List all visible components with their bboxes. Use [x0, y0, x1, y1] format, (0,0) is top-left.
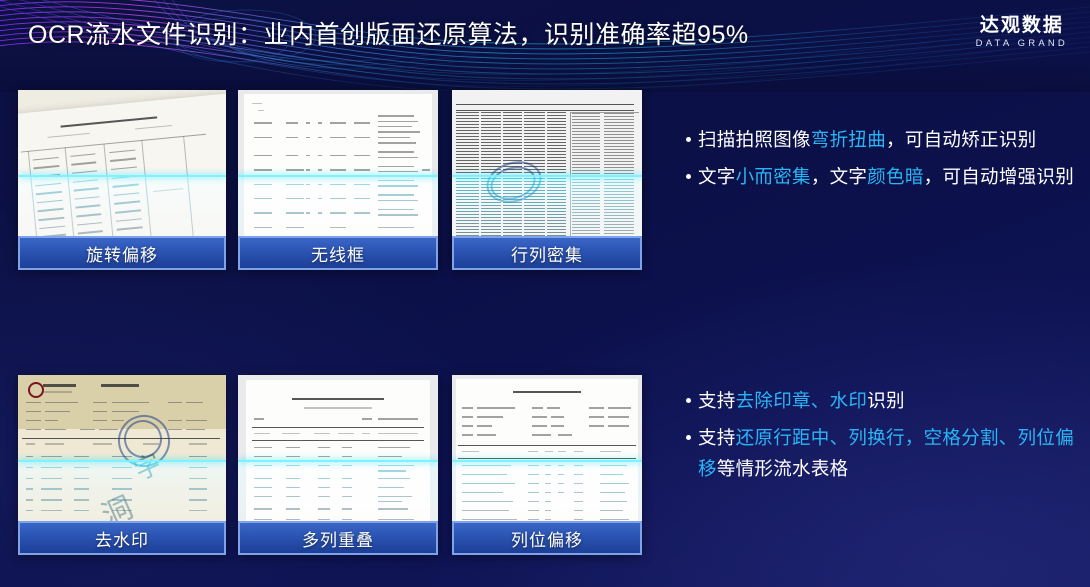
plain-phrase: 扫描拍照图像	[698, 129, 811, 150]
card-caption: 旋转偏移	[18, 236, 226, 270]
brand-logo: 达观数据 DATA GRAND	[976, 14, 1068, 51]
scan-edge-line	[238, 460, 438, 462]
bullet-dot-icon	[686, 435, 691, 440]
bullet-text: 文字小而密集，文字颜色暗，可自动增强识别	[698, 161, 1074, 192]
scan-edge-line	[18, 460, 226, 462]
brand-name-en: DATA GRAND	[976, 37, 1068, 51]
scan-edge-line	[18, 175, 226, 177]
sample-card-grid: 旋转偏移	[18, 90, 650, 560]
plain-phrase: ，可自动矫正识别	[886, 129, 1036, 150]
feature-bullets-group-1: 扫描拍照图像弯折扭曲，可自动矫正识别 文字小而密集，文字颜色暗，可自动增强识别	[686, 124, 1078, 198]
plain-phrase: 支持	[698, 427, 736, 448]
card-row-top: 旋转偏移	[18, 90, 650, 270]
scan-edge-line	[238, 175, 438, 177]
sample-card-dense[interactable]: 行列密集	[452, 90, 642, 270]
plain-phrase: ，文字	[811, 166, 867, 187]
card-caption: 无线框	[238, 236, 438, 270]
bullet-item: 支持还原行距中、列换行，空格分割、列位偏移等情形流水表格	[686, 422, 1086, 484]
card-caption: 列位偏移	[452, 521, 642, 555]
highlighted-phrase: 弯折扭曲	[811, 129, 886, 150]
slide-root: OCR流水文件识别：业内首创版面还原算法，识别准确率超95% 达观数据 DATA…	[0, 0, 1090, 587]
bullet-item: 文字小而密集，文字颜色暗，可自动增强识别	[686, 161, 1078, 192]
highlighted-phrase: 颜色暗	[867, 166, 923, 187]
card-caption: 行列密集	[452, 236, 642, 270]
bullet-text: 支持还原行距中、列换行，空格分割、列位偏移等情形流水表格	[698, 422, 1086, 484]
page-title: OCR流水文件识别：业内首创版面还原算法，识别准确率超95%	[28, 18, 749, 52]
bullet-item: 支持去除印章、水印识别	[686, 385, 1086, 416]
bullet-dot-icon	[686, 398, 691, 403]
bullet-item: 扫描拍照图像弯折扭曲，可自动矫正识别	[686, 124, 1078, 155]
highlighted-phrase: 去除印章、水印	[736, 390, 868, 411]
plain-phrase: 识别	[867, 390, 905, 411]
highlighted-phrase: 小而密集	[736, 166, 811, 187]
feature-bullets-group-2: 支持去除印章、水印识别 支持还原行距中、列换行，空格分割、列位偏移等情形流水表格	[686, 385, 1086, 490]
bullet-dot-icon	[686, 174, 691, 179]
sample-card-watermark[interactable]: 字 洞 去水印	[18, 375, 226, 555]
sample-card-rotated[interactable]: 旋转偏移	[18, 90, 226, 270]
card-caption: 去水印	[18, 521, 226, 555]
scan-edge-line	[452, 460, 642, 462]
bullet-text: 支持去除印章、水印识别	[698, 385, 905, 416]
plain-phrase: 等情形流水表格	[717, 458, 849, 479]
plain-phrase: 支持	[698, 390, 736, 411]
sample-card-shifted[interactable]: 列位偏移	[452, 375, 642, 555]
scan-edge-line	[452, 175, 642, 177]
sample-card-borderless[interactable]: 无线框	[238, 90, 438, 270]
bullet-text: 扫描拍照图像弯折扭曲，可自动矫正识别	[698, 124, 1036, 155]
brand-name-cn: 达观数据	[976, 14, 1068, 37]
plain-phrase: 文字	[698, 166, 736, 187]
card-row-bottom: 字 洞 去水印	[18, 375, 650, 555]
card-caption: 多列重叠	[238, 521, 438, 555]
bullet-dot-icon	[686, 137, 691, 142]
plain-phrase: ，可自动增强识别	[924, 166, 1074, 187]
sample-card-overlap[interactable]: 多列重叠	[238, 375, 438, 555]
